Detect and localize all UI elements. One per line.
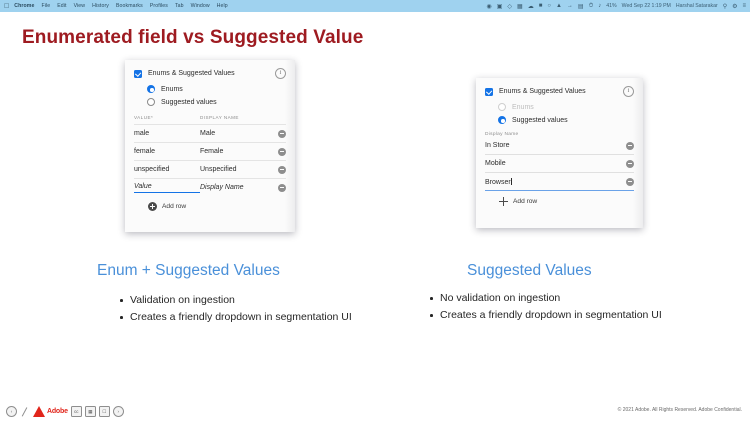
radio-enums-right: Enums bbox=[498, 103, 634, 111]
menu-item-window[interactable]: Window bbox=[191, 3, 210, 9]
radio-label: Enums bbox=[161, 86, 183, 93]
minus-circle-icon[interactable] bbox=[626, 160, 634, 168]
radio-enums-left[interactable]: Enums bbox=[147, 85, 286, 93]
table-row-new[interactable]: Value Display Name bbox=[134, 178, 286, 196]
column-heading-right: Suggested Values bbox=[467, 262, 592, 280]
cell-display-name[interactable]: Female bbox=[200, 148, 274, 155]
slides-grid-button[interactable]: ▦ bbox=[85, 406, 96, 417]
copyright-text: © 2021 Adobe. All Rights Reserved. Adobe… bbox=[618, 407, 742, 413]
minus-circle-icon[interactable] bbox=[278, 184, 286, 192]
menu-item-view[interactable]: View bbox=[74, 3, 86, 9]
info-icon[interactable]: i bbox=[275, 68, 286, 79]
minus-circle-icon[interactable] bbox=[626, 178, 634, 186]
list-item: No validation on ingestion bbox=[428, 291, 663, 306]
checkbox-icon[interactable] bbox=[485, 88, 493, 96]
cell-value[interactable]: male bbox=[134, 130, 200, 137]
add-row-button[interactable]: Add row bbox=[485, 191, 634, 213]
radio-suggested-values-right[interactable]: Suggested values bbox=[498, 116, 634, 124]
list-item-value-text: Browser bbox=[485, 179, 511, 186]
table-row[interactable]: unspecified Unspecified bbox=[134, 160, 286, 178]
adobe-logo-text: Adobe bbox=[47, 408, 68, 415]
bullet-list-right: No validation on ingestion Creates a fri… bbox=[428, 291, 663, 325]
grid-icon[interactable]: ▦ bbox=[517, 3, 523, 10]
plus-icon[interactable] bbox=[499, 197, 508, 206]
cloud-icon[interactable]: ☁ bbox=[528, 3, 534, 10]
macos-menu-bar:  Chrome File Edit View History Bookmark… bbox=[0, 0, 750, 12]
captions-button[interactable]: cc bbox=[71, 406, 82, 417]
text-cursor bbox=[511, 178, 512, 185]
presentation-controls: ‹ Adobe cc ▦ ☐ › bbox=[6, 406, 124, 417]
table-row[interactable]: female Female bbox=[134, 142, 286, 160]
clock-icon[interactable]: ○ bbox=[547, 3, 551, 9]
adobe-a-icon bbox=[33, 406, 45, 417]
bullet-list-left: Validation on ingestion Creates a friend… bbox=[118, 293, 353, 327]
info-icon[interactable]: i bbox=[623, 86, 634, 97]
add-row-label: Add row bbox=[162, 203, 186, 210]
cell-display-name[interactable]: Unspecified bbox=[200, 166, 274, 173]
apple-icon[interactable]:  bbox=[4, 3, 9, 10]
menu-item-file[interactable]: File bbox=[41, 3, 50, 9]
menu-item-history[interactable]: History bbox=[92, 3, 109, 9]
list-item-value-input[interactable]: Browser bbox=[485, 178, 622, 186]
cell-value[interactable]: unspecified bbox=[134, 166, 200, 173]
chat-button[interactable]: ☐ bbox=[99, 406, 110, 417]
minus-circle-icon[interactable] bbox=[278, 148, 286, 156]
menu-item-bookmarks[interactable]: Bookmarks bbox=[116, 3, 143, 9]
menu-item-edit[interactable]: Edit bbox=[57, 3, 66, 9]
volume-icon[interactable]: ♪ bbox=[598, 3, 601, 9]
arrow-icon[interactable]: → bbox=[567, 3, 573, 9]
list-item: Creates a friendly dropdown in segmentat… bbox=[428, 308, 663, 323]
enums-suggested-values-checkbox-row-right[interactable]: Enums & Suggested Values i bbox=[485, 86, 634, 97]
radio-icon[interactable] bbox=[147, 98, 155, 106]
list-item: Validation on ingestion bbox=[118, 293, 353, 308]
datetime-status[interactable]: Wed Sep 22 1:19 PM bbox=[622, 3, 671, 9]
new-display-name-input[interactable]: Display Name bbox=[200, 184, 274, 191]
cell-display-name[interactable]: Male bbox=[200, 130, 274, 137]
table-row[interactable]: male Male bbox=[134, 124, 286, 142]
checkbox-label: Enums & Suggested Values bbox=[148, 70, 235, 77]
table-header-row: VALUE* DISPLAY NAME bbox=[134, 115, 286, 124]
notifications-icon[interactable]: ≡ bbox=[742, 3, 746, 9]
new-value-input[interactable]: Value bbox=[134, 183, 200, 193]
checkbox-label: Enums & Suggested Values bbox=[499, 88, 586, 95]
column-heading-left: Enum + Suggested Values bbox=[97, 262, 280, 280]
list-item-value[interactable]: Mobile bbox=[485, 160, 622, 167]
column-header-value: VALUE* bbox=[134, 115, 200, 120]
menu-item-help[interactable]: Help bbox=[217, 3, 228, 9]
add-row-button[interactable]: Add row bbox=[134, 196, 286, 218]
camera-icon[interactable]: ■ bbox=[539, 3, 543, 9]
control-center-icon[interactable]: ⚙ bbox=[732, 3, 737, 10]
radio-icon[interactable] bbox=[147, 85, 155, 93]
cell-value[interactable]: female bbox=[134, 148, 200, 155]
column-header-display-name: DISPLAY NAME bbox=[200, 115, 286, 120]
adobe-logo: Adobe bbox=[33, 406, 68, 417]
pen-icon[interactable] bbox=[20, 407, 30, 417]
minus-circle-icon[interactable] bbox=[278, 130, 286, 138]
menu-item-chrome[interactable]: Chrome bbox=[14, 3, 34, 9]
radio-label: Suggested values bbox=[161, 99, 217, 106]
enums-suggested-values-checkbox-row-left[interactable]: Enums & Suggested Values i bbox=[134, 68, 286, 79]
enum-values-table: VALUE* DISPLAY NAME male Male female Fem… bbox=[134, 115, 286, 218]
record-icon[interactable]: ◉ bbox=[486, 3, 491, 10]
radio-suggested-values-left[interactable]: Suggested values bbox=[147, 98, 286, 106]
checkbox-icon[interactable] bbox=[134, 70, 142, 78]
list-item-value[interactable]: In Store bbox=[485, 142, 622, 149]
screen-share-icon[interactable]: ▣ bbox=[497, 3, 503, 10]
dropbox-icon[interactable]: ◇ bbox=[507, 3, 512, 10]
battery-status[interactable]: 41% bbox=[606, 3, 616, 9]
radio-icon[interactable] bbox=[498, 116, 506, 124]
page-title: Enumerated field vs Suggested Value bbox=[22, 27, 363, 49]
search-icon[interactable]: ⚲ bbox=[723, 3, 727, 10]
minus-circle-icon[interactable] bbox=[278, 166, 286, 174]
calendar-icon[interactable]: ▤ bbox=[578, 3, 584, 10]
radio-label: Suggested values bbox=[512, 117, 568, 124]
slide-screen:  Chrome File Edit View History Bookmark… bbox=[0, 0, 750, 421]
user-menu[interactable]: Harshal Satarakar bbox=[676, 3, 718, 9]
radio-icon bbox=[498, 103, 506, 111]
list-item: Creates a friendly dropdown in segmentat… bbox=[118, 310, 353, 325]
enum-config-panel-left: Enums & Suggested Values i Enums Suggest… bbox=[125, 60, 295, 232]
minus-circle-icon[interactable] bbox=[626, 142, 634, 150]
wifi-icon[interactable]: ⏱ bbox=[589, 3, 594, 10]
enum-config-panel-right: Enums & Suggested Values i Enums Suggest… bbox=[476, 78, 643, 228]
menu-item-profiles[interactable]: Profiles bbox=[150, 3, 168, 9]
shield-icon[interactable]: ▲ bbox=[556, 3, 562, 9]
next-slide-button[interactable]: › bbox=[113, 406, 124, 417]
list-item[interactable]: Mobile bbox=[485, 155, 634, 173]
radio-label: Enums bbox=[512, 104, 534, 111]
plus-circle-icon[interactable] bbox=[148, 202, 157, 211]
list-item-active[interactable]: Browser bbox=[485, 173, 634, 191]
previous-slide-button[interactable]: ‹ bbox=[6, 406, 17, 417]
menu-item-tab[interactable]: Tab bbox=[175, 3, 184, 9]
add-row-label: Add row bbox=[513, 198, 537, 205]
list-item[interactable]: In Store bbox=[485, 137, 634, 155]
